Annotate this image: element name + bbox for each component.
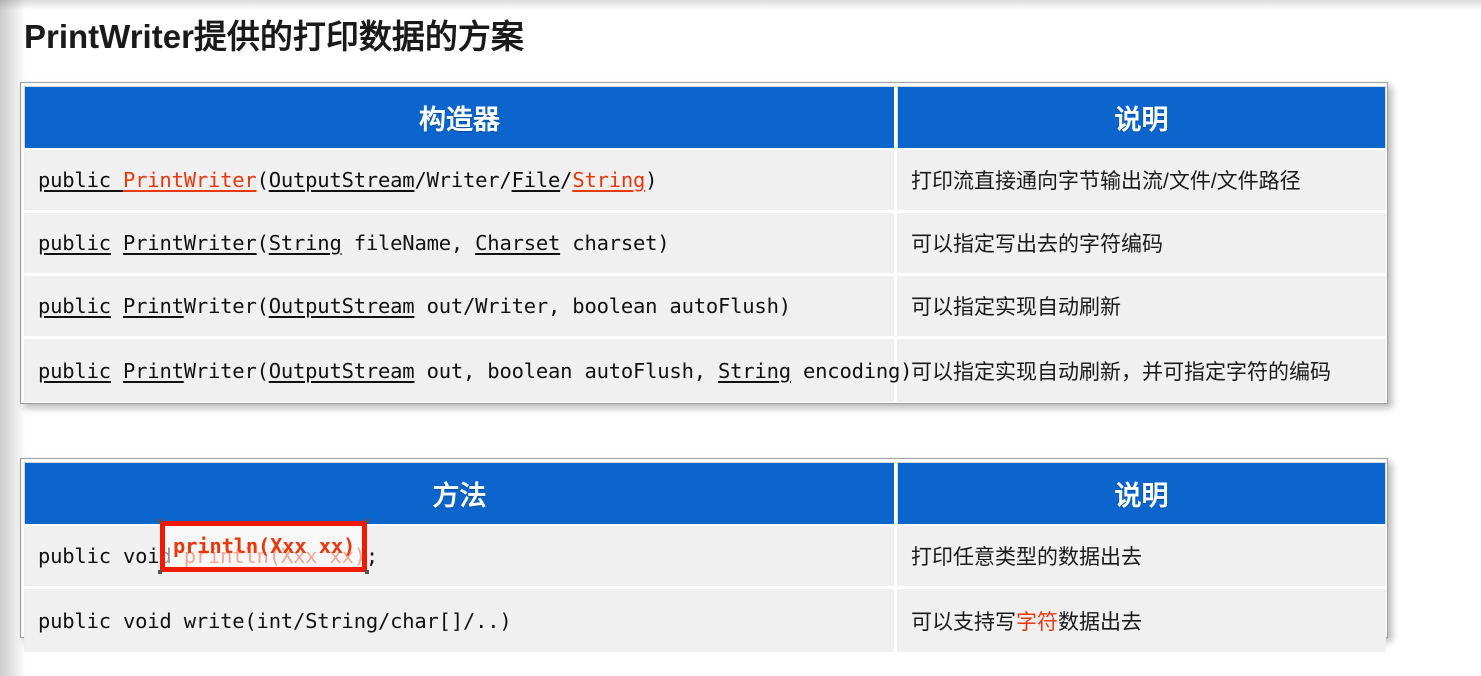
annotation-handle-top-right xyxy=(365,519,369,523)
annotation-handle-top-left xyxy=(158,519,162,523)
method-signature: public void write(int/String/char[]/..) xyxy=(24,589,897,652)
constructor-signature: public PrintWriter(OutputStream out/Writ… xyxy=(24,276,897,339)
constructor-signature: public PrintWriter(OutputStream/Writer/F… xyxy=(24,150,897,213)
constructor-description: 可以指定写出去的字符编码 xyxy=(897,213,1386,276)
annotation-handle-bottom-left xyxy=(158,570,162,574)
constructor-description: 打印流直接通向字节输出流/文件/文件路径 xyxy=(897,150,1386,213)
description-column-header: 说明 xyxy=(897,462,1386,526)
page-top-shadow xyxy=(0,0,1481,10)
constructor-table: 构造器 说明 public PrintWriter(OutputStream/W… xyxy=(20,82,1388,404)
println-highlight-label: println(Xxx xx) xyxy=(173,534,355,558)
constructor-signature: public PrintWriter(OutputStream out, boo… xyxy=(24,339,897,402)
method-description: 打印任意类型的数据出去 xyxy=(897,526,1386,589)
table-row: public PrintWriter(OutputStream/Writer/F… xyxy=(24,150,1386,213)
constructor-table-grid: 构造器 说明 public PrintWriter(OutputStream/W… xyxy=(24,86,1386,402)
table-row: public void write(int/String/char[]/..) … xyxy=(24,589,1386,652)
page-title: PrintWriter提供的打印数据的方案 xyxy=(24,10,524,58)
table-row: public PrintWriter(String fileName, Char… xyxy=(24,213,1386,276)
table-row: public PrintWriter(OutputStream out, boo… xyxy=(24,339,1386,402)
method-signature: public void println(Xxx xx); xyxy=(24,526,897,589)
constructor-description: 可以指定实现自动刷新 xyxy=(897,276,1386,339)
description-column-header: 说明 xyxy=(897,86,1386,150)
constructor-description: 可以指定实现自动刷新，并可指定字符的编码 xyxy=(897,339,1386,402)
constructor-column-header: 构造器 xyxy=(24,86,897,150)
constructor-table-body: public PrintWriter(OutputStream/Writer/F… xyxy=(24,150,1386,402)
table-header-row: 方法 说明 xyxy=(24,462,1386,526)
table-header-row: 构造器 说明 xyxy=(24,86,1386,150)
table-row: public PrintWriter(OutputStream out/Writ… xyxy=(24,276,1386,339)
method-description: 可以支持写字符数据出去 xyxy=(897,589,1386,652)
method-column-header: 方法 xyxy=(24,462,897,526)
annotation-handle-bottom-right xyxy=(365,570,369,574)
constructor-signature: public PrintWriter(String fileName, Char… xyxy=(24,213,897,276)
